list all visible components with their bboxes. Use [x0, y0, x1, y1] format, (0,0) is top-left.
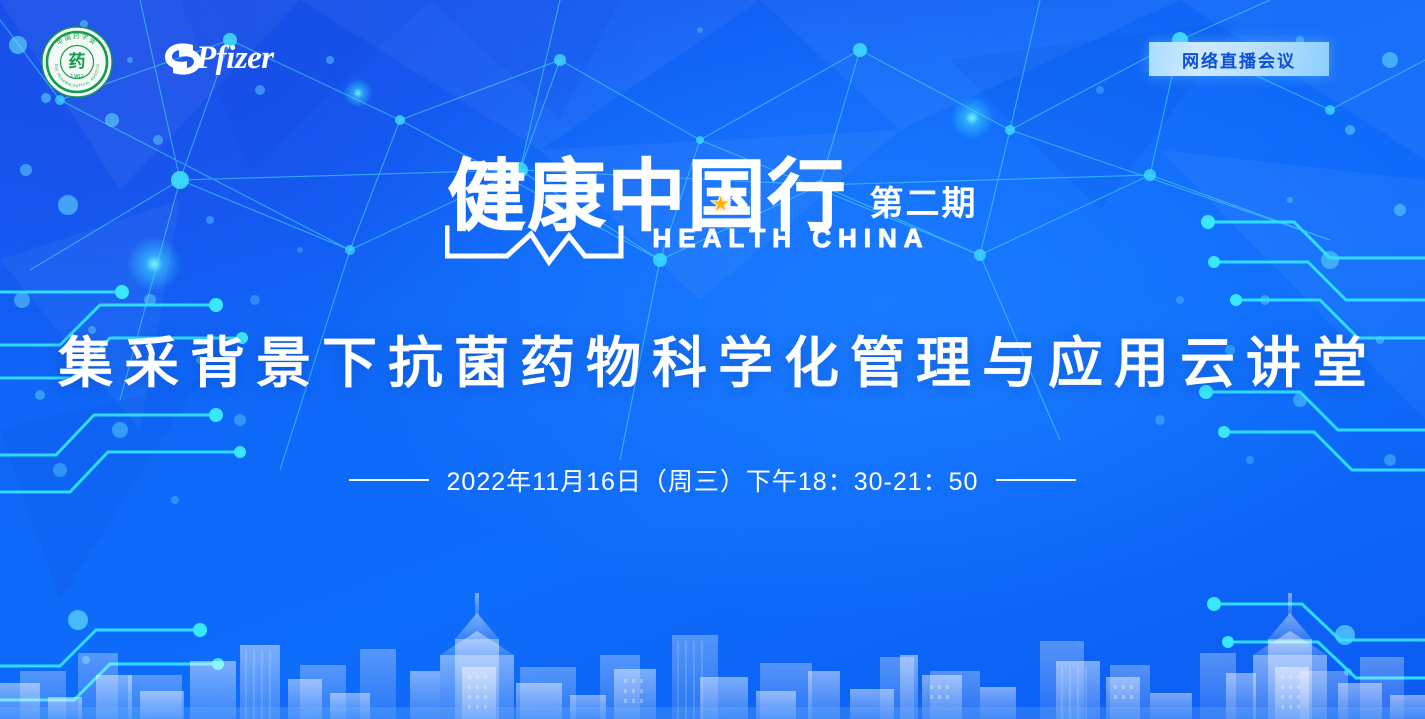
glow-node [343, 78, 373, 108]
glow-node [126, 236, 182, 292]
svg-text:药: 药 [69, 51, 86, 72]
gold-star-icon: ★ [709, 192, 733, 217]
seal-year: 1962 [70, 74, 84, 80]
event-logo: 健康中国行 ★ HEALTH CHINA 第二期 [0, 152, 1425, 240]
event-datetime: 2022年11月16日（周三）下午18：30-21：50 [0, 462, 1425, 498]
live-broadcast-badge: 网络直播会议 [1149, 42, 1329, 76]
pfizer-wordmark: Pfizer [196, 38, 274, 78]
glow-node [950, 96, 994, 140]
date-rule-left [349, 479, 429, 481]
event-logo-chinese-wrap: 健康中国行 ★ HEALTH CHINA [447, 152, 847, 240]
pfizer-logo: Pfizer [163, 36, 293, 82]
page-title: 集采背景下抗菌药物科学化管理与应用云讲堂 [0, 327, 1425, 399]
event-logo-issue: 第二期 [870, 176, 978, 225]
event-logo-english: HEALTH CHINA [652, 224, 929, 252]
pharmacy-society-seal: 中国药学会 CHINESE PHARMACEUTICAL ASSOCIATION… [40, 25, 114, 99]
heartbeat-line-icon [445, 222, 685, 270]
date-rule-right [996, 479, 1076, 481]
event-datetime-text: 2022年11月16日（周三）下午18：30-21：50 [447, 462, 979, 498]
live-badge-label: 网络直播会议 [1182, 47, 1296, 72]
webinar-poster: 中国药学会 CHINESE PHARMACEUTICAL ASSOCIATION… [0, 0, 1425, 719]
city-skyline-icon [0, 579, 1425, 719]
